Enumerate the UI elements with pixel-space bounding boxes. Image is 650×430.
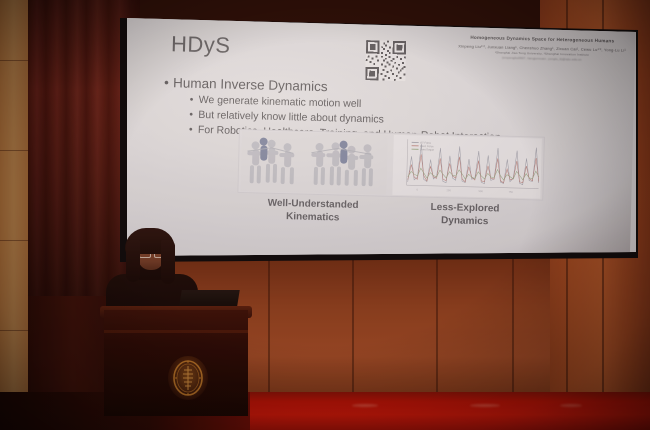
presentation-photo: HDyS: [0, 0, 650, 430]
podium-edge: [104, 330, 248, 333]
presenter-hair-left: [126, 240, 140, 282]
svg-text:Joint Torque: Joint Torque: [420, 147, 435, 151]
svg-text:750: 750: [508, 190, 513, 194]
svg-text:500: 500: [478, 189, 483, 193]
projection-screen: HDyS: [124, 8, 636, 262]
university-seal-icon: [168, 356, 208, 400]
paper-header: Homogeneous Dynamics Space for Heterogen…: [453, 34, 632, 63]
caption-dynamics: Less-ExploredDynamics: [389, 201, 542, 230]
qr-code-icon: [365, 40, 406, 81]
figure-row: GT ForcePred. ForceJoint Torque 0250 500…: [237, 129, 545, 201]
presenter-hair-right: [161, 240, 175, 284]
svg-text:250: 250: [446, 188, 451, 192]
caption-kinematics: Well-UnderstandedKinematics: [237, 197, 390, 226]
dynamics-plot-figure: GT ForcePred. ForceJoint Torque 0250 500…: [392, 135, 541, 199]
slide-title: HDyS: [171, 31, 231, 58]
bullet-text: Human Inverse Dynamics: [173, 75, 328, 94]
kinematics-figure: [240, 131, 387, 195]
figure-captions: Well-UnderstandedKinematics Less-Explore…: [237, 197, 542, 230]
slide-content: HDyS: [124, 8, 636, 262]
